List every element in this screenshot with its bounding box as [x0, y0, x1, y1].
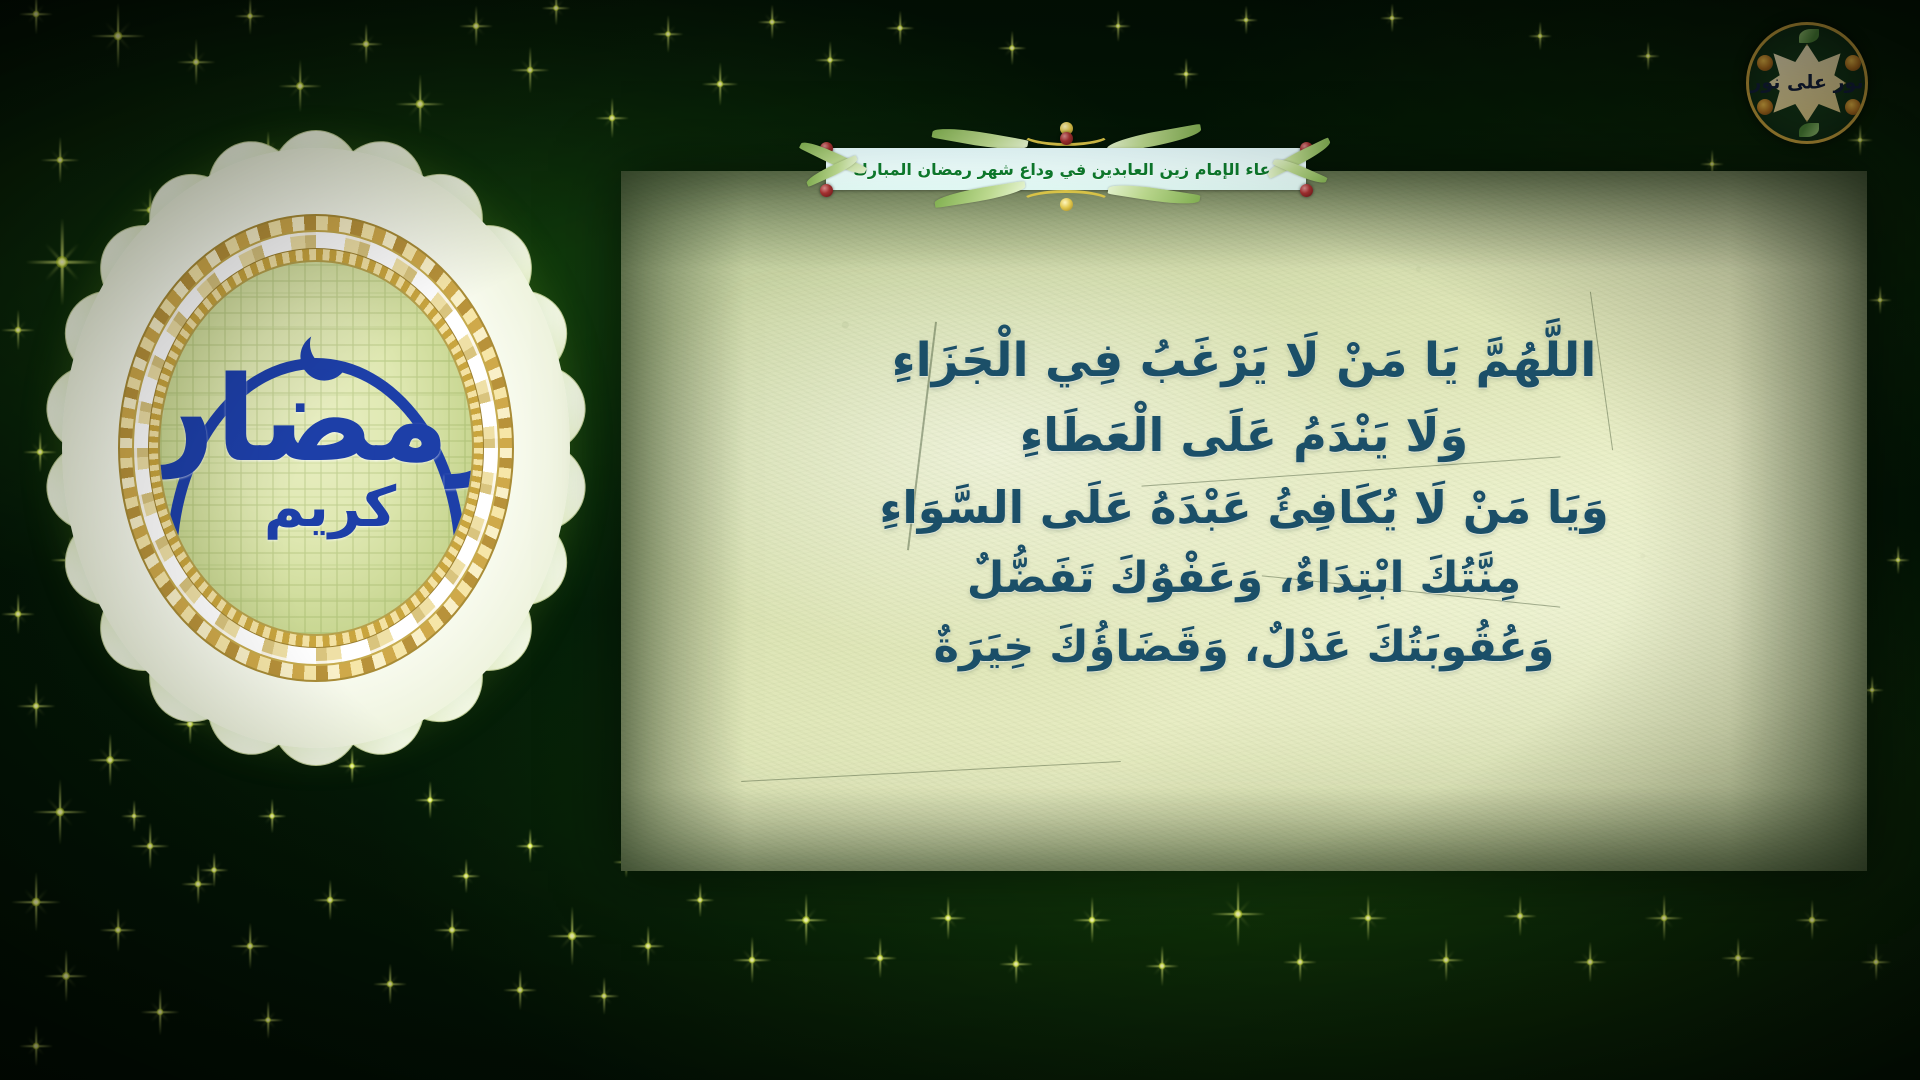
- logo-leaf-icon: [1799, 123, 1819, 137]
- dua-line-5: وَعُقُوبَتُكَ عَدْلٌ، وَقَضَاؤُكَ خِيَرَ…: [651, 619, 1837, 676]
- logo-floral-accent: [1845, 99, 1861, 115]
- slide-canvas: رمضان كريم اللَّهُمَّ يَا مَنْ لَا يَرْغ…: [0, 0, 1920, 1080]
- logo-calligraphy: نور على نور: [1750, 74, 1863, 93]
- logo-floral-accent: [1845, 55, 1861, 71]
- medallion-word-ramadan: رمضان: [158, 360, 474, 478]
- logo-leaf-icon: [1799, 29, 1819, 43]
- title-banner: دعاء الإمام زين العابدين في وداع شهر رمض…: [806, 122, 1326, 214]
- dua-line-3: وَيَا مَنْ لَا يُكَافِئُ عَبْدَهُ عَلَى …: [651, 478, 1837, 538]
- logo-floral-accent: [1757, 55, 1773, 71]
- dua-line-2: وَلَا يَنْدَمُ عَلَى الْعَطَاءِ: [651, 405, 1837, 466]
- ramadan-medallion: رمضان كريم: [62, 148, 570, 748]
- dua-line-4: مِنَّتُكَ ابْتِدَاءٌ، وَعَفْوُكَ تَفَضُّ…: [651, 550, 1837, 607]
- logo-floral-accent: [1757, 99, 1773, 115]
- gold-dot: [1060, 122, 1073, 135]
- gold-swoop-icon: [1020, 120, 1112, 146]
- dua-text-block: اللَّهُمَّ يَا مَنْ لَا يَرْغَبُ فِي الْ…: [651, 330, 1837, 688]
- dua-line-1: اللَّهُمَّ يَا مَنْ لَا يَرْغَبُ فِي الْ…: [651, 330, 1837, 393]
- gold-dot: [1060, 198, 1073, 211]
- logo-disc: نور على نور: [1746, 22, 1868, 144]
- gold-swoop-icon: [1020, 190, 1112, 214]
- banner-title-text: دعاء الإمام زين العابدين في وداع شهر رمض…: [826, 148, 1306, 190]
- ruby-bead-left-low: [820, 184, 833, 197]
- medallion-word-kareem: كريم: [264, 480, 396, 536]
- channel-logo[interactable]: نور على نور: [1746, 22, 1868, 144]
- medallion-inner-field: رمضان كريم: [158, 260, 474, 636]
- ruby-bead-right-low: [1300, 184, 1313, 197]
- medallion-calligraphy: رمضان كريم: [160, 262, 472, 634]
- ruby-bead: [1060, 132, 1073, 145]
